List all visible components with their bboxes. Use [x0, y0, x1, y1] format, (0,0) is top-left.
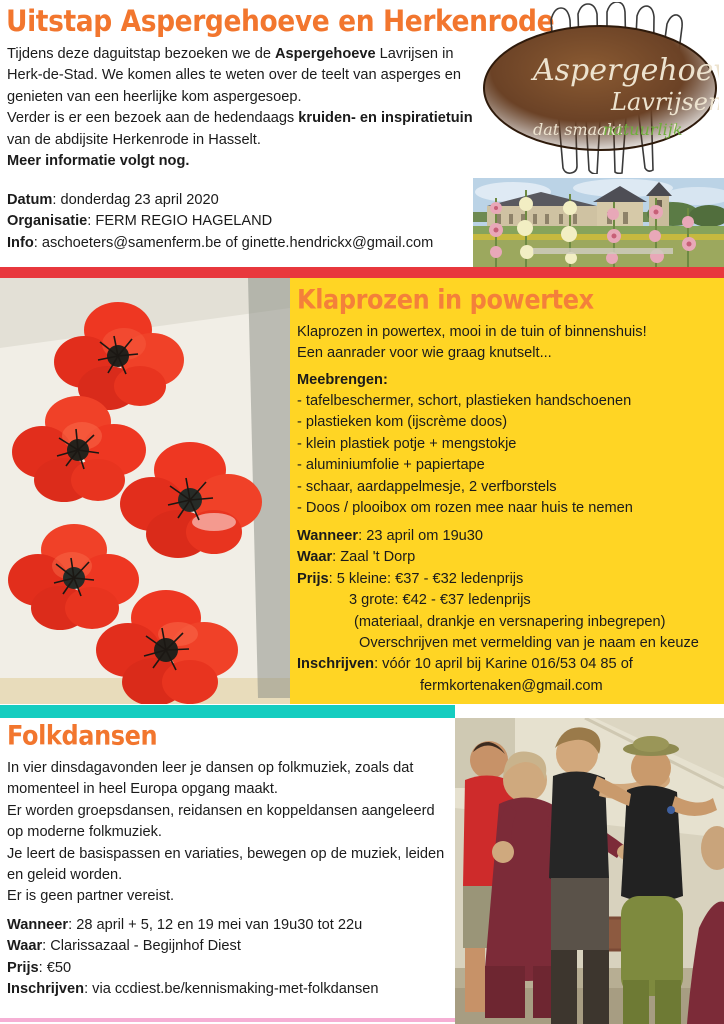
- klaprozen-bring-list: - tafelbeschermer, schort, plastieken ha…: [297, 391, 721, 519]
- aspergehoeve-logo-svg: Aspergehoeve Lavrijsen dat smaakt natuur…: [481, 2, 719, 174]
- folkdansen-paragraph: Er worden groepsdansen, reidansen en kop…: [7, 801, 447, 844]
- list-item: - klein plastiek potje + mengstokje: [297, 434, 721, 455]
- poppy-photo-art: [0, 278, 290, 704]
- detail-value: Overschrijven met vermelding van je naam…: [359, 635, 699, 651]
- folk-dancing-photo: [455, 718, 724, 1024]
- meta-label: Wanneer: [7, 917, 68, 933]
- folkdansen-paragraph: Je leert de basispassen en variaties, be…: [7, 844, 447, 887]
- flyer-page: Uitstap Aspergehoeve en Herkenrode Tijde…: [0, 0, 724, 1024]
- meta-row: Wanneer: 28 april + 5, 12 en 19 mei van …: [7, 915, 447, 936]
- klaprozen-details: Wanneer: 23 april om 19u30 Waar: Zaal 't…: [297, 526, 721, 697]
- meta-row: Prijs: €50: [7, 958, 447, 979]
- detail-label: Inschrijven: [297, 656, 374, 672]
- detail-row: (materiaal, drankje en versnapering inbe…: [297, 612, 721, 633]
- meta-row: Info: aschoeters@samenferm.be of ginette…: [7, 233, 475, 254]
- poppy-photo: [0, 278, 290, 704]
- aspergehoeve-logo: Aspergehoeve Lavrijsen dat smaakt natuur…: [481, 2, 719, 174]
- meta-label: Organisatie: [7, 213, 87, 229]
- detail-value: : 23 april om 19u30: [358, 528, 483, 544]
- detail-row: Inschrijven: vóór 10 april bij Karine 01…: [297, 654, 721, 675]
- footer-pink-line: [0, 1018, 455, 1022]
- uitstap-p1-bold: Aspergehoeve: [275, 46, 376, 62]
- detail-value: fermkortenaken@gmail.com: [420, 678, 603, 694]
- detail-row: Wanneer: 23 april om 19u30: [297, 526, 721, 547]
- meta-row: Waar: Clarissazaal - Begijnhof Diest: [7, 936, 447, 957]
- section-folkdansen: Folkdansen In vier dinsdagavonden leer j…: [0, 718, 724, 1024]
- detail-row: 3 grote: €42 - €37 ledenprijs: [297, 590, 721, 611]
- section-klaprozen: Klaprozen in powertex Klaprozen in power…: [0, 278, 724, 704]
- divider-teal: [0, 705, 455, 718]
- meta-value: : Clarissazaal - Begijnhof Diest: [42, 938, 241, 954]
- meta-label: Datum: [7, 192, 52, 208]
- meta-row: Datum: donderdag 23 april 2020: [7, 190, 475, 211]
- logo-line1: Aspergehoeve: [530, 53, 719, 88]
- detail-label: Prijs: [297, 571, 329, 587]
- list-item: - Doos / plooibox om rozen mee naar huis…: [297, 498, 721, 519]
- meta-value: : 28 april + 5, 12 en 19 mei van 19u30 t…: [68, 917, 362, 933]
- meta-label: Waar: [7, 938, 42, 954]
- uitstap-p3-bold: Meer informatie volgt nog.: [7, 153, 189, 169]
- detail-label: Waar: [297, 549, 332, 565]
- meta-value: : FERM REGIO HAGELAND: [87, 213, 272, 229]
- uitstap-p1-a: Tijdens deze daguitstap bezoeken we de: [7, 46, 275, 62]
- klaprozen-intro-line: Een aanrader voor wie graag knutselt...: [297, 343, 721, 364]
- detail-row: fermkortenaken@gmail.com: [297, 676, 721, 697]
- detail-value: 3 grote: €42 - €37 ledenprijs: [349, 592, 531, 608]
- meta-label: Info: [7, 235, 34, 251]
- section-uitstap: Uitstap Aspergehoeve en Herkenrode Tijde…: [0, 0, 724, 267]
- logo-tagline-part3: !: [671, 120, 677, 139]
- detail-value: (materiaal, drankje en versnapering inbe…: [354, 614, 666, 630]
- detail-value: : vóór 10 april bij Karine 016/53 04 85 …: [374, 656, 633, 672]
- list-item: - tafelbeschermer, schort, plastieken ha…: [297, 391, 721, 412]
- folkdansen-paragraph: Er is geen partner vereist.: [7, 886, 447, 907]
- uitstap-paragraph-1: Tijdens deze daguitstap bezoeken we de A…: [7, 46, 461, 105]
- folkdansen-body: In vier dinsdagavonden leer je dansen op…: [7, 758, 447, 908]
- detail-row: Prijs: 5 kleine: €37 - €32 ledenprijs: [297, 569, 721, 590]
- folkdansen-paragraph: In vier dinsdagavonden leer je dansen op…: [7, 758, 447, 801]
- folkdansen-title: Folkdansen: [7, 720, 157, 751]
- klaprozen-intro-line: Klaprozen in powertex, mooi in de tuin o…: [297, 322, 721, 343]
- list-item: - schaar, aardappelmesje, 2 verfborstels: [297, 477, 721, 498]
- uitstap-paragraph-2: Verder is er een bezoek aan de hedendaag…: [7, 110, 473, 147]
- uitstap-meta-list: Datum: donderdag 23 april 2020 Organisat…: [7, 190, 475, 254]
- klaprozen-bring-label: Meebrengen:: [297, 370, 388, 391]
- meta-row: Inschrijven: via ccdiest.be/kennismaking…: [7, 979, 447, 1000]
- meta-value: : donderdag 23 april 2020: [52, 192, 218, 208]
- meta-row: Organisatie: FERM REGIO HAGELAND: [7, 211, 475, 232]
- folkdansen-meta-list: Wanneer: 28 april + 5, 12 en 19 mei van …: [7, 915, 447, 1001]
- list-item: - aluminiumfolie + papiertape: [297, 455, 721, 476]
- meta-value: : via ccdiest.be/kennismaking-met-folkda…: [84, 981, 378, 997]
- detail-label: Wanneer: [297, 528, 358, 544]
- detail-value: : 5 kleine: €37 - €32 ledenprijs: [329, 571, 524, 587]
- dance-photo-art: [455, 718, 724, 1024]
- meta-value: : aschoeters@samenferm.be of ginette.hen…: [34, 235, 434, 251]
- detail-row: Overschrijven met vermelding van je naam…: [297, 633, 721, 654]
- abbey-photo-art: [473, 178, 724, 267]
- uitstap-p2-a: Verder is er een bezoek aan de hedendaag…: [7, 110, 298, 126]
- uitstap-title: Uitstap Aspergehoeve en Herkenrode: [6, 4, 554, 39]
- uitstap-p2-bold: kruiden- en inspiratietuin: [298, 110, 472, 126]
- detail-value: : Zaal 't Dorp: [332, 549, 415, 565]
- list-item: - plastieken kom (ijscrème doos): [297, 412, 721, 433]
- klaprozen-title: Klaprozen in powertex: [297, 284, 594, 315]
- uitstap-body: Tijdens deze daguitstap bezoeken we de A…: [7, 44, 475, 172]
- herkenrode-abbey-photo: [473, 178, 724, 267]
- klaprozen-intro: Klaprozen in powertex, mooi in de tuin o…: [297, 322, 721, 365]
- meta-label: Inschrijven: [7, 981, 84, 997]
- klaprozen-panel: Klaprozen in powertex Klaprozen in power…: [290, 278, 724, 704]
- divider-red: [0, 267, 724, 278]
- meta-label: Prijs: [7, 960, 39, 976]
- uitstap-p2-b: van de abdijsite Herkenrode in Hasselt.: [7, 132, 261, 148]
- meta-value: : €50: [39, 960, 71, 976]
- logo-line2: Lavrijsen: [610, 88, 719, 116]
- detail-row: Waar: Zaal 't Dorp: [297, 547, 721, 568]
